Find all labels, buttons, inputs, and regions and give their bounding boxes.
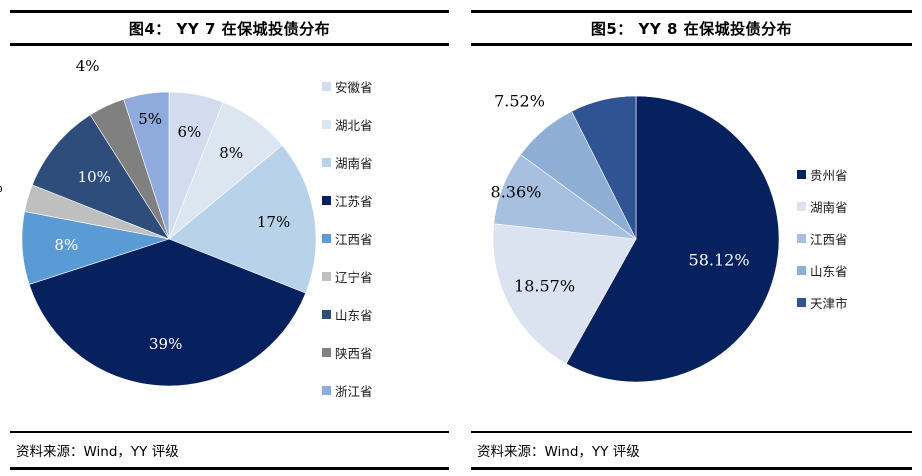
figure-panel-5: 图5： YY 8 在保城投债分布 58.12%18.57%8.36%7.52% … (461, 0, 922, 476)
legend-item-label: 山东省 (810, 261, 848, 280)
legend-item-label: 天津市 (810, 293, 848, 312)
legend-item[interactable]: 湖南省 (322, 153, 373, 172)
legend-color-swatch (322, 158, 331, 167)
legend-item-label: 安徽省 (335, 77, 373, 96)
pie-slice-label: 4% (76, 57, 100, 75)
legend-item[interactable]: 安徽省 (322, 77, 373, 96)
legend-color-swatch (322, 348, 331, 357)
legend-color-swatch (322, 234, 331, 243)
legend-color-swatch (797, 170, 806, 179)
figure-4-title: 图4： YY 7 在保城投债分布 (129, 18, 330, 39)
legend-item[interactable]: 山东省 (797, 261, 848, 280)
legend-color-swatch (322, 120, 331, 129)
legend-color-swatch (797, 298, 806, 307)
pie-chart-5: 58.12%18.57%8.36%7.52% (493, 96, 779, 382)
legend-color-swatch (797, 202, 806, 211)
figure-pair-container: 图4： YY 7 在保城投债分布 6%8%17%39%8%3%10%4%5% 安… (0, 0, 922, 476)
legend-item-label: 江苏省 (335, 191, 373, 210)
figure-panel-4: 图4： YY 7 在保城投债分布 6%8%17%39%8%3%10%4%5% 安… (0, 0, 461, 476)
figure-5-title-bar: 图5： YY 8 在保城投债分布 (471, 10, 912, 46)
figure-4-title-bar: 图4： YY 7 在保城投债分布 (10, 10, 449, 46)
legend-item[interactable]: 浙江省 (322, 381, 373, 400)
legend-item[interactable]: 湖北省 (322, 115, 373, 134)
pie-slices-group (22, 92, 316, 386)
legend-item-label: 山东省 (335, 305, 373, 324)
figure-5-title: 图5： YY 8 在保城投债分布 (591, 18, 792, 39)
figure-4-footer: 资料来源：Wind，YY 评级 (10, 431, 449, 470)
legend-color-swatch (322, 272, 331, 281)
legend-item-label: 贵州省 (810, 165, 848, 184)
legend-color-swatch (797, 234, 806, 243)
legend-item[interactable]: 江西省 (322, 229, 373, 248)
legend-color-swatch (797, 266, 806, 275)
figure-4-source: 资料来源：Wind，YY 评级 (10, 440, 179, 460)
figure-5-chart-area: 58.12%18.57%8.36%7.52% 贵州省湖南省江西省山东省天津市 (471, 46, 912, 431)
legend-color-swatch (322, 310, 331, 319)
legend-item-label: 辽宁省 (335, 267, 373, 286)
pie-chart-4: 6%8%17%39%8%3%10%4%5% (22, 92, 316, 386)
legend-item-label: 湖北省 (335, 115, 373, 134)
pie-slice-label: 3% (0, 178, 3, 196)
pie-slices-group (493, 96, 779, 382)
legend-color-swatch (322, 386, 331, 395)
legend-item-label: 江西省 (335, 229, 373, 248)
legend-item[interactable]: 贵州省 (797, 165, 848, 184)
legend-color-swatch (322, 82, 331, 91)
legend-item[interactable]: 陕西省 (322, 343, 373, 362)
legend-item[interactable]: 江苏省 (322, 191, 373, 210)
legend-item-label: 陕西省 (335, 343, 373, 362)
pie-chart-5-legend: 贵州省湖南省江西省山东省天津市 (797, 165, 848, 312)
legend-item[interactable]: 江西省 (797, 229, 848, 248)
legend-item-label: 湖南省 (335, 153, 373, 172)
legend-item-label: 浙江省 (335, 381, 373, 400)
legend-item[interactable]: 山东省 (322, 305, 373, 324)
figure-4-chart-area: 6%8%17%39%8%3%10%4%5% 安徽省湖北省湖南省江苏省江西省辽宁省… (10, 46, 449, 431)
pie-chart-4-legend: 安徽省湖北省湖南省江苏省江西省辽宁省山东省陕西省浙江省 (322, 77, 373, 400)
figure-5-footer: 资料来源：Wind，YY 评级 (471, 431, 912, 470)
legend-item-label: 湖南省 (810, 197, 848, 216)
legend-color-swatch (322, 196, 331, 205)
legend-item-label: 江西省 (810, 229, 848, 248)
legend-item[interactable]: 天津市 (797, 293, 848, 312)
figure-5-source: 资料来源：Wind，YY 评级 (471, 440, 640, 460)
legend-item[interactable]: 辽宁省 (322, 267, 373, 286)
legend-item[interactable]: 湖南省 (797, 197, 848, 216)
